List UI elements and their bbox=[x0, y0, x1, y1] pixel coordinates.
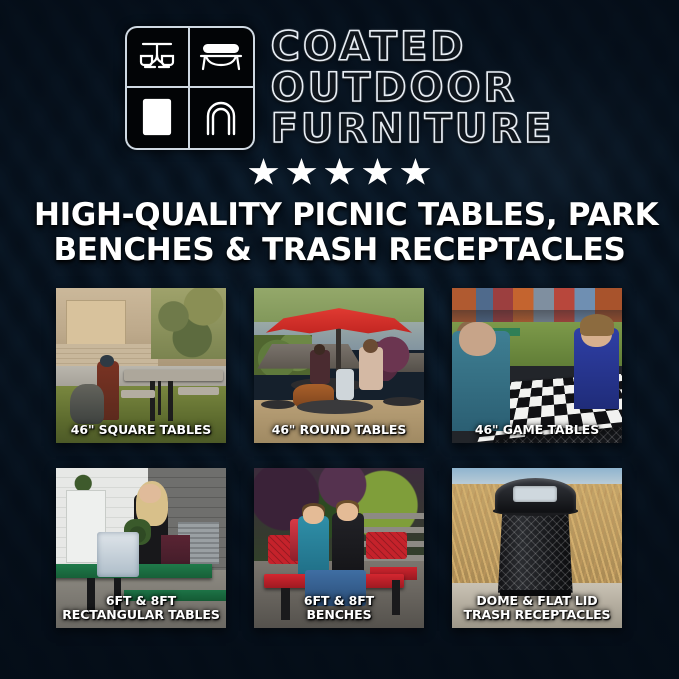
star-icon bbox=[249, 158, 279, 187]
product-caption-line-1: 6FT & 8FT bbox=[304, 593, 374, 608]
product-caption-line-2: BENCHES bbox=[256, 608, 422, 622]
product-caption-line-1: 46" ROUND TABLES bbox=[272, 422, 407, 437]
product-tile-benches[interactable]: 6FT & 8FT BENCHES bbox=[254, 468, 424, 628]
brand-logo: COATED OUTDOOR FURNITURE bbox=[0, 26, 679, 150]
star-rating bbox=[0, 158, 679, 187]
product-caption-line-1: 46" GAME TABLES bbox=[475, 422, 599, 437]
star-icon bbox=[287, 158, 317, 187]
brand-wordmark: COATED OUTDOOR FURNITURE bbox=[271, 27, 555, 149]
product-caption: 46" SQUARE TABLES bbox=[58, 423, 224, 437]
star-icon bbox=[325, 158, 355, 187]
product-photo-game-tables bbox=[452, 288, 622, 443]
product-tile-game-tables[interactable]: 46" GAME TABLES bbox=[452, 288, 622, 443]
trash-receptacle-icon bbox=[127, 88, 190, 148]
star-icon bbox=[401, 158, 431, 187]
headline-line-1: HIGH-QUALITY PICNIC TABLES, PARK bbox=[34, 198, 645, 233]
bike-rack-icon bbox=[190, 88, 253, 148]
product-photo-round-tables bbox=[254, 288, 424, 443]
headline: HIGH-QUALITY PICNIC TABLES, PARK BENCHES… bbox=[34, 198, 645, 268]
promotional-poster: COATED OUTDOOR FURNITURE HIGH-QUALITY PI… bbox=[0, 0, 679, 679]
product-caption: DOME & FLAT LID TRASH RECEPTACLES bbox=[454, 594, 620, 621]
product-caption: 46" ROUND TABLES bbox=[256, 423, 422, 437]
product-caption-line-2: RECTANGULAR TABLES bbox=[58, 608, 224, 622]
product-caption-line-1: DOME & FLAT LID bbox=[476, 593, 597, 608]
star-icon bbox=[363, 158, 393, 187]
product-caption-line-2: TRASH RECEPTACLES bbox=[454, 608, 620, 622]
brand-name-line-1: COATED bbox=[271, 27, 555, 67]
product-tile-trash-receptacles[interactable]: DOME & FLAT LID TRASH RECEPTACLES bbox=[452, 468, 622, 628]
bench-icon bbox=[190, 28, 253, 88]
headline-line-2: BENCHES & TRASH RECEPTACLES bbox=[34, 233, 645, 268]
product-tile-square-tables[interactable]: 46" SQUARE TABLES bbox=[56, 288, 226, 443]
brand-name-line-2: OUTDOOR bbox=[271, 68, 555, 108]
brand-name-line-3: FURNITURE bbox=[271, 109, 555, 149]
product-category-grid: 46" SQUARE TABLES bbox=[56, 288, 622, 628]
product-caption: 46" GAME TABLES bbox=[454, 423, 620, 437]
picnic-table-icon bbox=[127, 28, 190, 88]
product-caption: 6FT & 8FT RECTANGULAR TABLES bbox=[58, 594, 224, 621]
product-tile-round-tables[interactable]: 46" ROUND TABLES bbox=[254, 288, 424, 443]
product-tile-rectangular-tables[interactable]: 6FT & 8FT RECTANGULAR TABLES bbox=[56, 468, 226, 628]
logo-icon-grid bbox=[125, 26, 255, 150]
product-photo-square-tables bbox=[56, 288, 226, 443]
product-caption: 6FT & 8FT BENCHES bbox=[256, 594, 422, 621]
product-caption-line-1: 6FT & 8FT bbox=[106, 593, 176, 608]
product-caption-line-1: 46" SQUARE TABLES bbox=[71, 422, 211, 437]
